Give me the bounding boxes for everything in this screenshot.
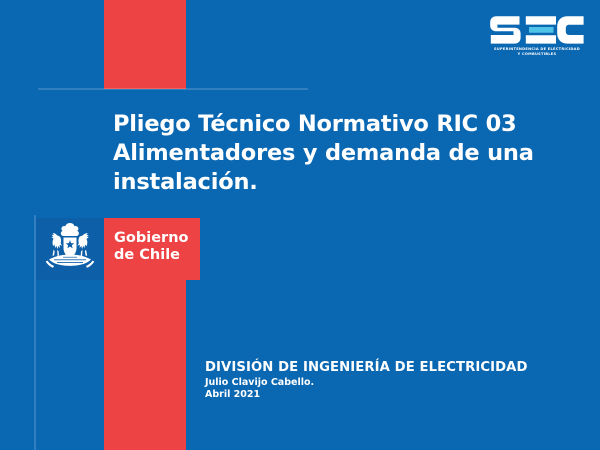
slide-title: Pliego Técnico Normativo RIC 03 Alimenta… xyxy=(113,110,513,197)
horizontal-divider-line xyxy=(38,88,308,90)
presentation-title-slide: SUPERINTENDENCIA DE ELECTRICIDAD Y COMBU… xyxy=(0,0,600,450)
crest-backdrop xyxy=(36,218,104,280)
sec-logo-caption: SUPERINTENDENCIA DE ELECTRICIDAD Y COMBU… xyxy=(489,47,585,57)
slide-title-line-2: Alimentadores y demanda de una xyxy=(113,139,513,168)
slide-title-line-3: instalación. xyxy=(113,168,513,197)
gobierno-de-chile-text: Gobierno de Chile xyxy=(114,230,188,264)
gobierno-de-chile-logo: Gobierno de Chile xyxy=(36,218,200,280)
slide-title-line-1: Pliego Técnico Normativo RIC 03 xyxy=(113,110,513,139)
gobierno-text-backdrop: Gobierno de Chile xyxy=(104,218,200,280)
gobierno-line-1: Gobierno xyxy=(114,230,188,246)
chile-coat-of-arms-icon xyxy=(41,221,99,277)
sec-caption-line-2: Y COMBUSTIBLES xyxy=(518,52,557,56)
author-name: Julio Clavijo Cabello. xyxy=(205,377,585,389)
department-name: DIVISIÓN DE INGENIERÍA DE ELECTRICIDAD xyxy=(205,360,585,376)
gobierno-line-2: de Chile xyxy=(114,247,180,263)
slide-credits: DIVISIÓN DE INGENIERÍA DE ELECTRICIDAD J… xyxy=(205,360,585,401)
red-accent-band-top xyxy=(104,0,186,89)
sec-caption-line-1: SUPERINTENDENCIA DE ELECTRICIDAD xyxy=(494,47,580,51)
sec-wordmark-icon xyxy=(489,14,585,46)
presentation-date: Abril 2021 xyxy=(205,389,585,401)
sec-logo: SUPERINTENDENCIA DE ELECTRICIDAD Y COMBU… xyxy=(489,14,585,66)
